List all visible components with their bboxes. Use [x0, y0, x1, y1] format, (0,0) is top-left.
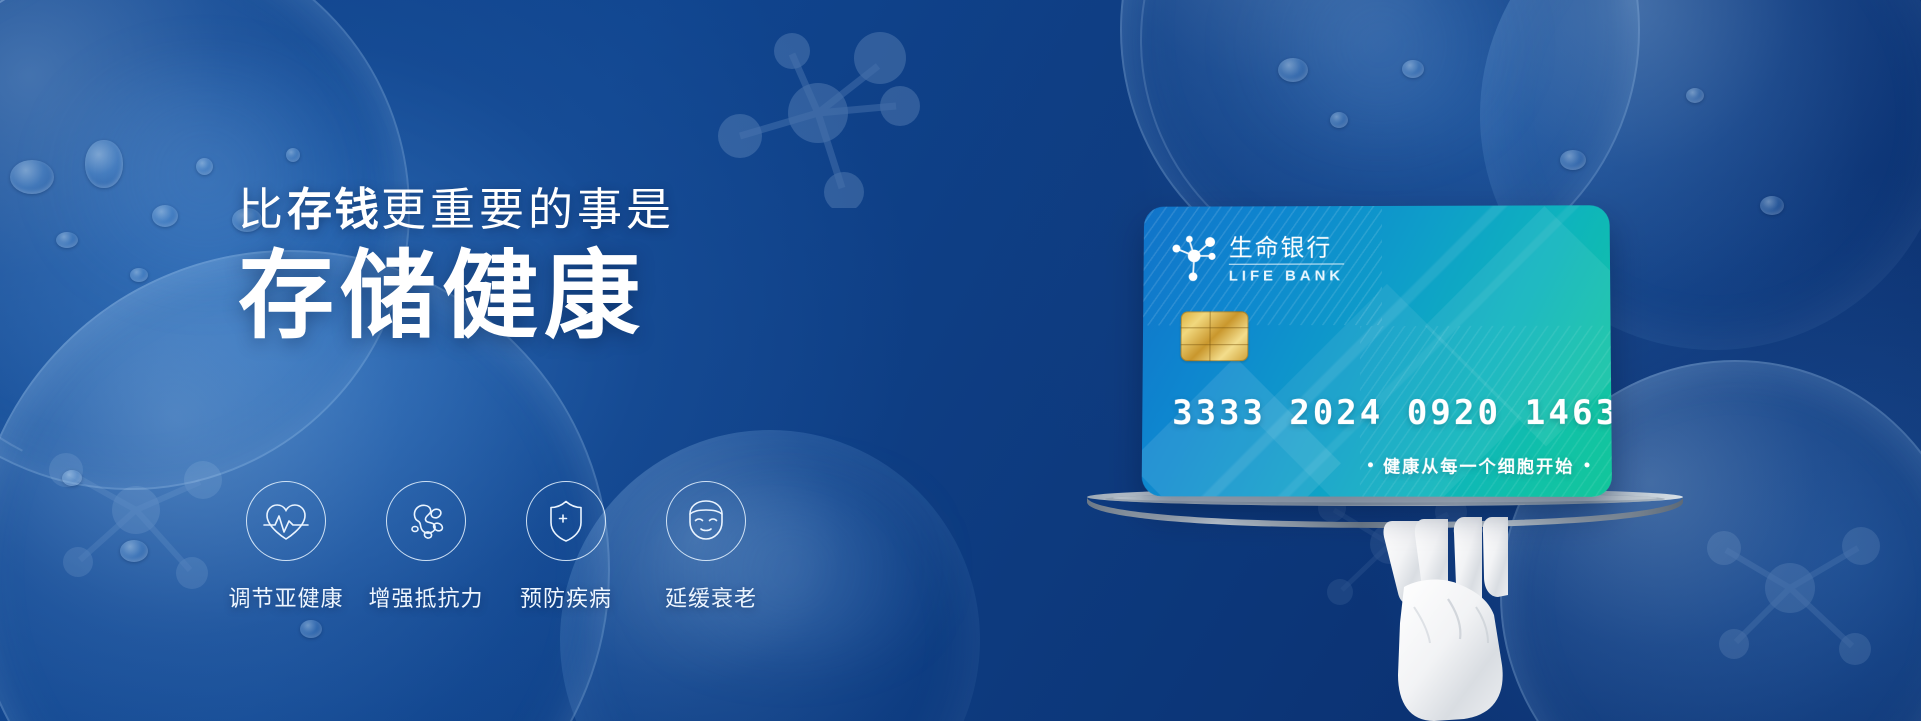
water-droplet — [1330, 112, 1348, 128]
feature-icon-shield-plus[interactable] — [526, 481, 606, 561]
water-droplet — [130, 268, 148, 282]
shield-plus-icon — [546, 498, 586, 544]
water-droplet — [286, 148, 300, 162]
feature-icon-row — [246, 481, 746, 561]
card-tagline-text: 健康从每一个细胞开始 — [1383, 452, 1574, 477]
water-droplet — [1560, 150, 1586, 170]
feature-icon-smiling-face[interactable] — [666, 481, 746, 561]
sub-headline: 比存钱更重要的事是 — [238, 186, 878, 234]
card-brand-en: LIFE BANK — [1229, 268, 1344, 285]
water-droplet — [1760, 196, 1784, 215]
sub-headline-prefix: 比 — [238, 184, 287, 235]
emv-chip-icon — [1181, 311, 1249, 361]
main-headline: 存储健康 — [238, 248, 878, 346]
bullet-dot-icon — [1584, 462, 1589, 467]
feature-icon-cells[interactable] — [386, 481, 466, 561]
water-droplet — [196, 158, 213, 175]
card-tagline: 健康从每一个细胞开始 — [1368, 452, 1590, 477]
water-droplet — [1686, 88, 1704, 103]
molecule-icon — [1700, 500, 1900, 680]
smiling-face-icon — [682, 498, 730, 544]
water-droplet — [300, 620, 322, 638]
feature-icon-heart-pulse[interactable] — [246, 481, 326, 561]
feature-label-0: 调节亚健康 — [228, 581, 344, 613]
sub-headline-emphasis: 存钱 — [287, 184, 381, 235]
water-droplet — [120, 540, 148, 562]
bubble-sphere — [560, 430, 980, 721]
molecule-icon — [700, 18, 930, 208]
water-droplet — [152, 205, 178, 227]
water-droplet — [1278, 58, 1308, 82]
card-number: 3333 2024 0920 1463 — [1172, 393, 1612, 433]
water-droplet — [62, 470, 82, 486]
heart-pulse-icon — [262, 499, 310, 543]
molecule-icon — [1169, 232, 1219, 289]
card-brand-cn: 生命银行 — [1229, 235, 1344, 265]
water-droplet — [85, 140, 123, 188]
bullet-dot-icon — [1368, 462, 1373, 467]
feature-label-row: 调节亚健康 增强抵抗力 预防疾病 延缓衰老 — [228, 581, 774, 613]
sub-headline-suffix: 更重要的事是 — [381, 184, 675, 235]
feature-label-1: 增强抵抗力 — [368, 581, 484, 613]
headline-block: 比存钱更重要的事是 存储健康 — [238, 186, 878, 346]
molecule-icon — [40, 430, 240, 600]
feature-label-3: 延缓衰老 — [648, 581, 774, 613]
health-bank-banner: 比存钱更重要的事是 存储健康 — [0, 0, 1921, 721]
water-droplet — [1402, 60, 1424, 78]
light-haze — [1230, 0, 1530, 150]
water-droplet — [56, 232, 78, 248]
gloved-hand-icon — [1352, 515, 1532, 721]
card-brand-logo: 生命银行 LIFE BANK — [1169, 232, 1344, 289]
water-droplet — [10, 160, 54, 194]
feature-label-2: 预防疾病 — [508, 581, 624, 613]
cells-icon — [403, 498, 449, 544]
life-bank-card[interactable]: 生命银行 LIFE BANK 3333 2024 0920 1463 健康从每一… — [1142, 205, 1612, 497]
